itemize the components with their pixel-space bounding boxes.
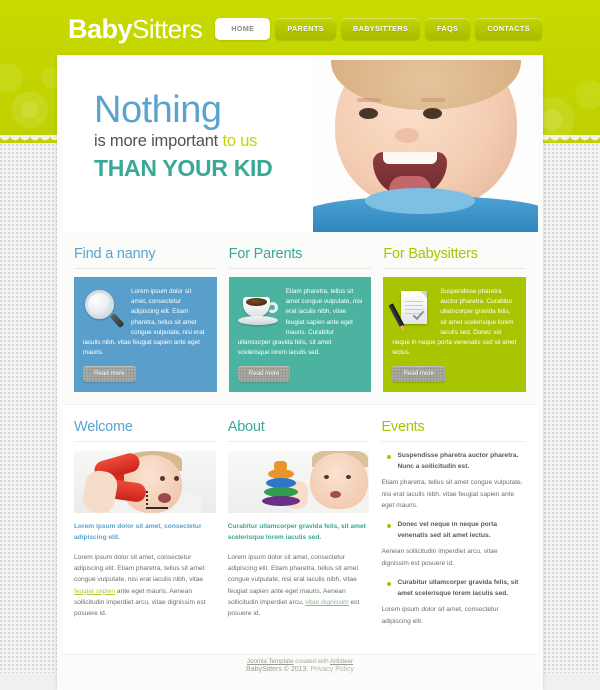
service-title-find-a-nanny: Find a nanny xyxy=(74,246,217,269)
welcome-lead-text: Lorem ipsum dolor sit amet, consectetur … xyxy=(74,522,216,543)
service-title-for-parents: For Parents xyxy=(229,246,372,269)
event-headline: Donec vel neque in neque porta venenatis… xyxy=(397,520,526,541)
column-title-welcome: Welcome xyxy=(74,419,216,442)
service-body-for-babysitters: Suspendisse pharetra auctor pharetra. Cu… xyxy=(383,277,526,392)
coffee-cup-icon xyxy=(238,289,280,331)
about-thumbnail-image xyxy=(228,451,370,513)
top-bar: BabySitters HOME PARENTS BABYSITTERS FAQ… xyxy=(0,0,600,58)
site-logo[interactable]: BabySitters xyxy=(68,14,202,45)
hero-baby-photo xyxy=(313,60,538,232)
content-sheet: Nothing is more important to us THAN YOU… xyxy=(57,55,543,690)
bullet-icon xyxy=(387,582,391,586)
privacy-policy-link[interactable]: Privacy Policy xyxy=(310,666,354,673)
event-list-item[interactable]: Suspendisse pharetra auctor pharetra. Nu… xyxy=(381,451,526,472)
footer-copyright: BabySitters © 2013. xyxy=(246,666,310,673)
read-more-button-for-parents[interactable]: Read more xyxy=(238,366,291,382)
event-paragraph: Lorem ipsum dolor sit amet, consectetur … xyxy=(381,604,526,627)
document-pen-icon xyxy=(392,289,434,331)
read-more-button-for-babysitters[interactable]: Read more xyxy=(392,366,445,382)
service-body-find-a-nanny: Lorem ipsum dolor sit amet, consectetur … xyxy=(74,277,217,392)
event-list-item[interactable]: Donec vel neque in neque porta venenatis… xyxy=(381,520,526,541)
about-inline-link[interactable]: vitae dignissim xyxy=(305,599,348,606)
column-title-about: About xyxy=(228,419,370,442)
hero-headline-3: THAN YOUR KID xyxy=(94,155,272,182)
nav-item-parents[interactable]: PARENTS xyxy=(275,18,336,40)
bullet-icon xyxy=(387,524,391,528)
nav-item-faqs[interactable]: FAQS xyxy=(425,18,470,40)
welcome-para-a: Lorem ipsum dolor sit amet, consectetur … xyxy=(74,554,204,584)
service-box-find-a-nanny: Find a nanny Lorem ipsum dolor sit amet,… xyxy=(74,246,217,392)
service-box-for-parents: For Parents Etiam pharetra, tellus sit a… xyxy=(229,246,372,392)
event-list-item[interactable]: Curabitur ullamcorper gravida felis, sit… xyxy=(381,578,526,599)
event-paragraph: Etiam pharetra, tellus sit amet congue v… xyxy=(381,477,526,511)
joomla-template-link[interactable]: Joomla Template xyxy=(247,658,294,665)
column-events: Events Suspendisse pharetra auctor phare… xyxy=(381,419,526,636)
nav-item-home[interactable]: HOME xyxy=(215,18,270,40)
read-more-button-find-a-nanny[interactable]: Read more xyxy=(83,366,136,382)
hero-banner: Nothing is more important to us THAN YOU… xyxy=(62,60,538,232)
welcome-paragraph: Lorem ipsum dolor sit amet, consectetur … xyxy=(74,552,216,620)
column-title-events: Events xyxy=(381,419,526,442)
hero-text-block: Nothing is more important to us THAN YOU… xyxy=(94,92,272,182)
about-lead-text: Curabitur ullamcorper gravida felis, sit… xyxy=(228,522,370,543)
subfooter-middle-text: created with xyxy=(294,658,330,665)
nav-item-babysitters[interactable]: BABYSITTERS xyxy=(341,18,420,40)
hero-headline-2: is more important to us xyxy=(94,132,272,151)
artisteer-link[interactable]: Artisteer xyxy=(330,658,353,665)
sub-footer: Joomla Template created with Artisteer xyxy=(0,658,600,665)
event-headline: Suspendisse pharetra auctor pharetra. Nu… xyxy=(397,451,526,472)
event-headline: Curabitur ullamcorper gravida felis, sit… xyxy=(397,578,526,599)
main-navigation: HOME PARENTS BABYSITTERS FAQS CONTACTS xyxy=(215,18,542,40)
hero-headline-2-accent: to us xyxy=(222,132,257,150)
magnifier-icon xyxy=(83,289,125,331)
logo-baby: Baby xyxy=(68,14,132,44)
bullet-icon xyxy=(387,455,391,459)
welcome-thumbnail-image xyxy=(74,451,216,513)
hero-headline-1: Nothing xyxy=(94,92,272,128)
about-paragraph: Lorem ipsum dolor sit amet, consectetur … xyxy=(228,552,370,620)
service-title-for-babysitters: For Babysitters xyxy=(383,246,526,269)
welcome-inline-link[interactable]: feugiat sapien xyxy=(74,588,115,595)
column-welcome: Welcome Lorem ipsum dolor sit amet, cons… xyxy=(74,419,216,636)
hero-headline-2-plain: is more important xyxy=(94,132,222,150)
column-about: About Curabitur ullamcorper gravida feli… xyxy=(228,419,370,636)
nav-item-contacts[interactable]: CONTACTS xyxy=(475,18,542,40)
service-body-for-parents: Etiam pharetra, tellus sit amet congue v… xyxy=(229,277,372,392)
service-boxes-row: Find a nanny Lorem ipsum dolor sit amet,… xyxy=(62,232,538,404)
lower-columns-row: Welcome Lorem ipsum dolor sit amet, cons… xyxy=(62,404,538,654)
service-box-for-babysitters: For Babysitters Suspendisse pharetra auc… xyxy=(383,246,526,392)
logo-sitters: Sitters xyxy=(132,14,202,44)
event-paragraph: Aenean sollicitudin imperdiet arcu, vita… xyxy=(381,546,526,569)
